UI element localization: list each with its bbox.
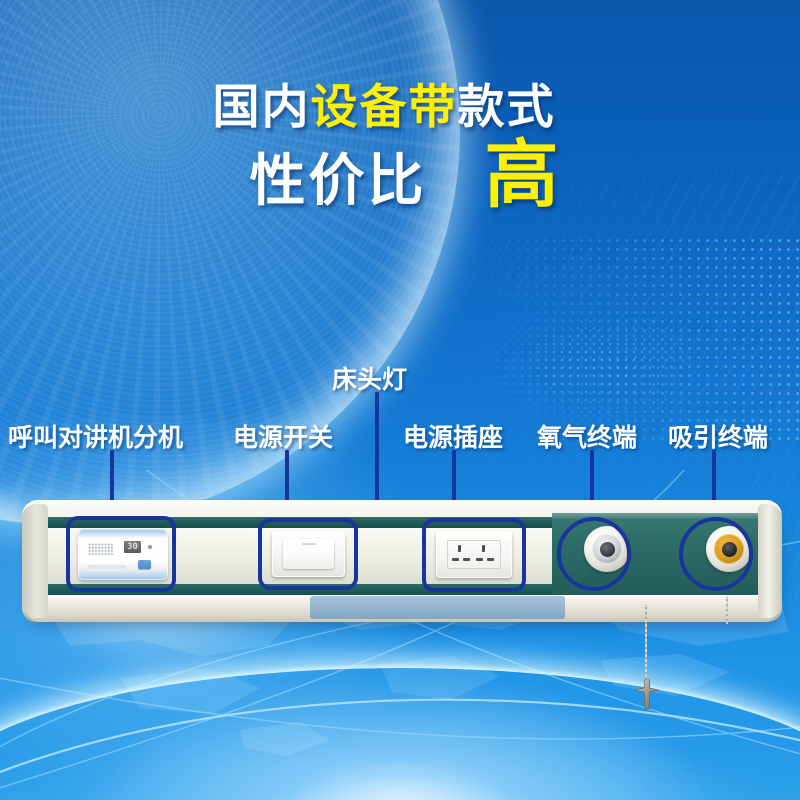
panel-end-cap-right — [758, 504, 782, 618]
halftone-dots-center — [470, 300, 690, 430]
pull-cord-weight-icon[interactable] — [634, 679, 660, 709]
headline: 国内设备带款式 性价比高 — [0, 78, 800, 216]
headline-line-2: 性价比高 — [0, 140, 800, 216]
pull-cord[interactable] — [645, 604, 647, 686]
callout-label-intercom: 呼叫对讲机分机 — [8, 418, 183, 454]
panel-end-cap-left — [22, 504, 48, 618]
highlight-box-intercom — [66, 516, 176, 592]
headline-seg-4: 性价比 — [250, 149, 427, 212]
highlight-circle-oxygen — [557, 517, 631, 591]
callout-label-power-socket: 电源插座 — [403, 418, 503, 454]
callout-label-power-switch: 电源开关 — [233, 418, 333, 454]
bed-lamp-diffuser[interactable] — [310, 596, 565, 619]
headline-line-1: 国内设备带款式 — [0, 78, 800, 136]
highlight-box-power-switch — [258, 518, 358, 590]
headline-seg-2: 设备带 — [311, 80, 458, 133]
highlight-circle-suction — [679, 517, 753, 591]
callout-label-bed-lamp: 床头灯 — [332, 360, 407, 396]
headline-seg-1: 国内 — [213, 80, 311, 133]
highlight-box-power-socket — [422, 518, 526, 592]
pull-cord-secondary[interactable] — [726, 596, 728, 624]
headline-seg-5-emphasis: 高 — [485, 133, 561, 216]
callout-label-suction-terminal: 吸引终端 — [668, 418, 768, 454]
callout-label-oxygen-terminal: 氧气终端 — [537, 418, 637, 454]
headline-seg-3: 款式 — [458, 80, 556, 133]
promo-banner: 国内设备带款式 性价比高 呼叫对讲机分机 电源开关 床头灯 电源插座 氧气终端 … — [0, 0, 800, 800]
